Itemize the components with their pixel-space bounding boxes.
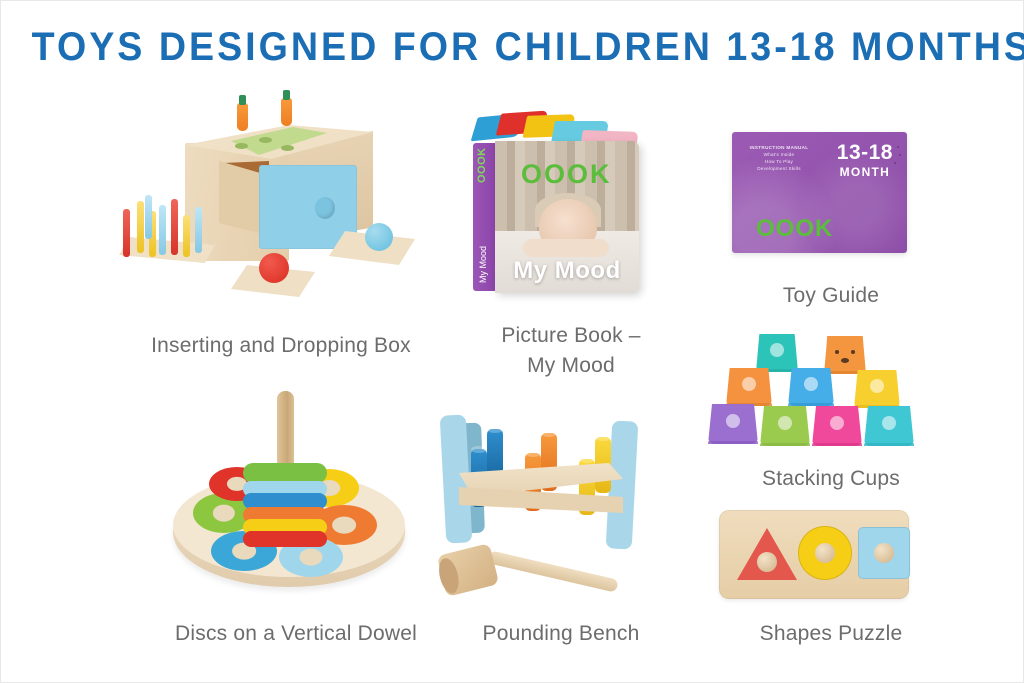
caption-picture-book-my-mood: Picture Book – My Mood [441,321,701,381]
toy-guide-brand-logo: OOOK [756,215,833,243]
poster-canvas: TOYS DESIGNED FOR CHILDREN 13-18 MONTHS [0,0,1024,683]
stacking-cup-blue [788,368,834,406]
peg-yellow [137,201,144,253]
peg-board [119,197,223,267]
stacking-cups-image [708,334,918,446]
book-brand-logo: OOOK [521,159,612,190]
toy-guide-manual-title: INSTRUCTION MANUAL [746,144,812,151]
book-title: My Mood [495,257,639,285]
discs-on-a-vertical-dowel-image [169,389,409,594]
toy-guide-manual-line: What's Inside [746,151,812,158]
peg-lightblue [159,205,166,255]
hammer-head [437,543,500,597]
stacking-cup-teal-top [756,334,798,372]
peg-red [171,199,178,255]
caption-inserting-and-dropping-box: Inserting and Dropping Box [61,331,501,360]
toy-guide-card: INSTRUCTION MANUAL What's Inside How To … [732,132,907,253]
caption-shapes-puzzle: Shapes Puzzle [701,619,961,648]
book-cover: OOOK My Mood [495,141,639,293]
picture-book-image: OOOK My Mood OOOK My Mood [469,113,669,303]
peg-lightblue [145,195,152,239]
toy-guide-age-number: 13-18 [837,142,893,164]
square-knob-icon [874,543,894,563]
carrot-peg-icon [237,103,248,131]
toy-guide-age-badge: 13-18 MONTH [837,142,893,180]
book-cover-child-arm [523,239,609,257]
page-title: TOYS DESIGNED FOR CHILDREN 13-18 MONTHS [32,25,993,70]
stacking-cup-orange [726,368,772,406]
triangle-knob-icon [757,552,777,572]
book-spine-title: My Mood [478,246,488,283]
stacking-cup-purple [708,404,758,444]
stacking-cup-green [760,406,810,446]
peg-red [123,209,130,257]
pounding-bench-image [409,407,664,602]
stacked-ring-red [243,531,327,547]
toy-guide-age-unit: MONTH [837,164,893,180]
peg-yellow [183,215,190,257]
drawer-knob-icon [315,197,335,219]
circle-knob-icon [815,543,835,563]
stacking-cup-pink [812,406,862,446]
caption-toy-guide: Toy Guide [701,281,961,310]
shapes-puzzle-image [719,510,909,599]
carrot-peg-icon [281,98,292,126]
toy-guide-manual-line: Development Skills [746,165,812,172]
caption-pounding-bench: Pounding Bench [431,619,691,648]
toy-guide-manual-line: How To Play [746,158,812,165]
stacking-cup-yellow [854,370,900,408]
caption-stacking-cups: Stacking Cups [701,464,961,493]
stacking-cup-cyan [864,406,914,446]
insert-hole-icon [235,143,248,149]
blue-ball-icon [365,223,393,251]
toy-guide-manual-text: INSTRUCTION MANUAL What's Inside How To … [746,144,812,172]
red-ball-icon [259,253,289,283]
toy-guide-image: INSTRUCTION MANUAL What's Inside How To … [732,132,907,253]
peg-lightblue [195,207,202,253]
insert-hole-icon [281,145,294,151]
inserting-and-dropping-box-image [119,105,439,305]
hammer-handle [487,550,619,592]
book-spine: OOOK My Mood [473,143,497,291]
stacked-ring-green [243,463,327,483]
insert-hole-icon [259,137,272,143]
book-spine-brand: OOOK [476,153,494,183]
